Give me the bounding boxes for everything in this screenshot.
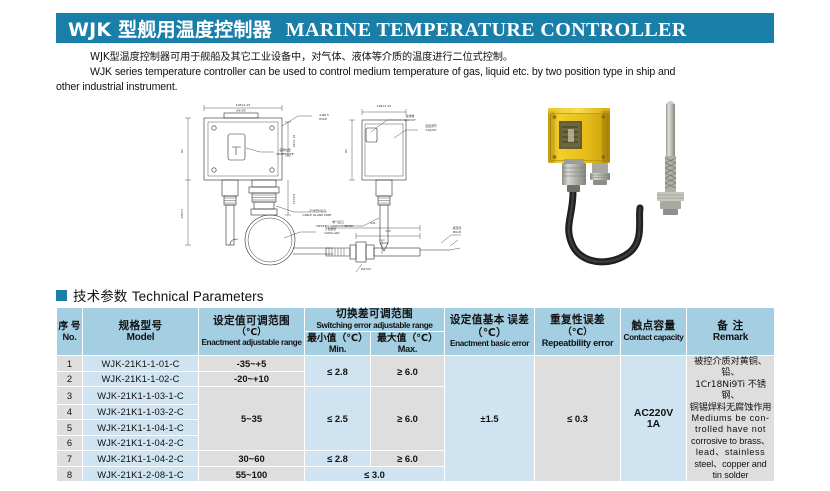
svg-text:82: 82 [180,149,184,153]
cell-model: WJK-21K1-1-02-C [83,371,199,387]
section-heading: 技术参数 Technical Parameters [56,285,264,305]
remark-en-3: corrosive to brass、 [687,436,774,447]
section-heading-label: 技术参数 Technical Parameters [73,285,264,305]
cell-enactment-range: -20~+10 [199,371,305,387]
svg-text:HOLE: HOLE [319,117,327,121]
page-title-cn: WJK 型舰用温度控制器 [68,19,272,41]
svg-text:CIRCUIT: CIRCUIT [404,118,416,122]
th-basic-error-cn-1: 设定值基本 [450,314,505,326]
cell-enactment-range: 5~35 [199,387,305,451]
th-remark-cn: 备 注 [717,320,744,332]
cell-switching-max: ≥ 6.0 [371,356,445,387]
cell-no: 6 [57,435,83,451]
table-header-row-1: 序 号 No. 规格型号 Model 设定值可调范围 （℃） Enactment… [57,308,775,332]
remark-en-6: tin solder [687,470,774,481]
th-basic-error: 设定值基本 误差（℃） Enactment basic error [445,308,535,356]
th-contact-en: Contact capacity [621,333,686,343]
th-switching-min: 最小值（℃） Min. [305,331,371,356]
th-remark: 备 注 Remark [687,308,775,356]
th-basic-error-en: Enactment basic error [445,339,534,349]
cell-enactment-range: -35~+5 [199,356,305,372]
svg-text:16±1.15: 16±1.15 [292,135,296,148]
svg-text:135±3: 135±3 [180,209,184,219]
cell-remark: 被控介质对黄铜、铅、 1Cr18Ni9Ti 不锈钢、 铜锡焊料无腐蚀作用 Med… [687,356,775,482]
svg-text:ADJUST: ADJUST [426,128,437,132]
cell-contact-capacity: AC220V 1A [621,356,687,482]
dimension-drawing: 106±1.15 Ø6 Ø5 82 135±3 16±1.15 27±0.5 4… [166,98,466,282]
contact-capacity-line-2: 1A [621,419,686,430]
cell-basic-error: ±1.5 [445,356,535,482]
technical-parameters-table: 序 号 No. 规格型号 Model 设定值可调范围 （℃） Enactment… [56,307,775,482]
th-switching-max-en: Max. [371,344,444,355]
remark-cn-2: 1Cr18Ni9Ti 不锈钢、 [687,379,774,402]
remark-en-1: Mediums be con- [687,413,774,424]
cell-repeatability: ≤ 0.3 [535,356,621,482]
page-title: WJK 型舰用温度控制器MARINE TEMPERATURE CONTROLLE… [68,15,687,42]
table-row: 1 WJK-21K1-1-01-C -35~+5 ≤ 2.8 ≥ 6.0 ±1.… [57,356,775,372]
cell-switching-max: ≥ 6.0 [371,451,445,467]
cell-switching-max: ≥ 6.0 [371,387,445,451]
intro-line-cn: WJK型温度控制器可用于舰船及其它工业设备中，对气体、液体等介质的温度进行二位式… [56,50,786,65]
th-enactment-unit: （℃） [199,327,304,338]
cell-model: WJK-21K1-1-01-C [83,356,199,372]
th-enactment-en: Enactment adjustable range [199,338,304,348]
th-switching-cn: 切换差可调范围 [336,308,413,320]
cell-no: 2 [57,371,83,387]
th-no: 序 号 No. [57,308,83,356]
th-enactment-range: 设定值可调范围 （℃） Enactment adjustable range [199,308,305,356]
th-contact-cn: 触点容量 [632,320,676,332]
figure-area: 106±1.15 Ø6 Ø5 82 135±3 16±1.15 27±0.5 4… [56,96,774,282]
th-repeat-unit: （℃） [535,327,620,338]
th-model-cn: 规格型号 [119,320,163,332]
cell-no: 3 [57,387,83,404]
svg-text:Ø6 Ø5: Ø6 Ø5 [236,108,245,113]
cell-no: 4 [57,404,83,420]
svg-text:CAPILLARY: CAPILLARY [324,231,340,235]
th-enactment-cn: 设定值可调范围 [213,315,290,327]
svg-text:M20X1.5 CONDUIT ENTRY: M20X1.5 CONDUIT ENTRY [316,224,354,228]
cell-switching-min: ≤ 2.8 [305,451,371,467]
contact-capacity-line-1: AC220V [621,408,686,419]
square-bullet-icon [56,290,67,301]
svg-text:NAMEPLATE: NAMEPLATE [276,152,293,156]
section-heading-cn: 技术参数 [73,289,127,305]
intro-paragraph: WJK型温度控制器可用于舰船及其它工业设备中，对气体、液体等介质的温度进行二位式… [56,50,786,95]
cell-model: WJK-21K1-1-04-1-C [83,420,199,436]
remark-en-5: steel、copper and [687,459,774,470]
cell-enactment-range: 30~60 [199,451,305,467]
svg-text:27±0.5: 27±0.5 [292,193,296,204]
remark-en-2: trolled have not [687,424,774,435]
cell-model: WJK-21K1-2-08-1-C [83,466,199,482]
section-heading-en: Technical Parameters [132,289,264,304]
intro-line-en-1: WJK series temperature controller can be… [56,65,786,80]
svg-text:M27X2: M27X2 [361,267,371,271]
th-model-en: Model [83,332,198,343]
cell-model: WJK-21K1-1-04-2-C [83,435,199,451]
svg-text:CABLE GLAND PORT: CABLE GLAND PORT [302,213,331,217]
svg-text:82: 82 [344,149,348,153]
svg-text:BULB: BULB [453,230,461,234]
cell-no: 8 [57,466,83,482]
th-repeat-cn: 重复性误差 [550,314,605,326]
th-no-cn-1: 序 [58,321,68,332]
technical-parameters-table-wrap: 序 号 No. 规格型号 Model 设定值可调范围 （℃） Enactment… [56,307,774,482]
svg-text:125: 125 [385,229,391,233]
th-remark-en: Remark [687,332,774,343]
svg-text:106±1.15: 106±1.15 [377,104,392,108]
th-switching-min-en: Min. [305,344,370,355]
th-switching-min-cn: 最小值（℃） [307,333,368,344]
th-no-en: No. [57,332,82,343]
remark-cn-3: 铜锡焊料无腐蚀作用 [687,402,774,413]
remark-en-4: lead、stainless [687,447,774,458]
th-repeatability: 重复性误差 （℃） Repeatbility error [535,308,621,356]
cell-switching-min: ≤ 2.8 [305,356,371,387]
cell-switching-min: ≤ 2.5 [305,387,371,451]
cell-model: WJK-21K1-1-04-2-C [83,451,199,467]
th-switching-error: 切换差可调范围 Switching error adjustable range [305,308,445,332]
svg-text:221: 221 [370,221,376,225]
svg-text:106±1.15: 106±1.15 [236,103,251,107]
th-contact-capacity: 触点容量 Contact capacity [621,308,687,356]
th-model: 规格型号 Model [83,308,199,356]
th-switching-en: Switching error adjustable range [305,321,444,331]
th-switching-max: 最大值（℃） Max. [371,331,445,356]
cell-model: WJK-21K1-1-03-1-C [83,387,199,404]
th-switching-max-cn: 最大值（℃） [377,333,438,344]
page-header-banner: WJK 型舰用温度控制器MARINE TEMPERATURE CONTROLLE… [56,13,774,43]
cell-no: 5 [57,420,83,436]
th-no-cn-2: 号 [71,321,81,332]
cell-no: 7 [57,451,83,467]
th-repeat-en: Repeatbility error [535,338,620,349]
cell-enactment-range: 55~100 [199,466,305,482]
product-photo [526,96,716,282]
cell-no: 1 [57,356,83,372]
remark-cn-1: 被控介质对黄铜、铅、 [687,356,774,379]
cell-switching-merged: ≤ 3.0 [305,466,445,482]
page-title-en: MARINE TEMPERATURE CONTROLLER [286,19,687,41]
intro-line-en-2: other industrial instrument. [56,80,786,95]
cell-model: WJK-21K1-1-03-2-C [83,404,199,420]
